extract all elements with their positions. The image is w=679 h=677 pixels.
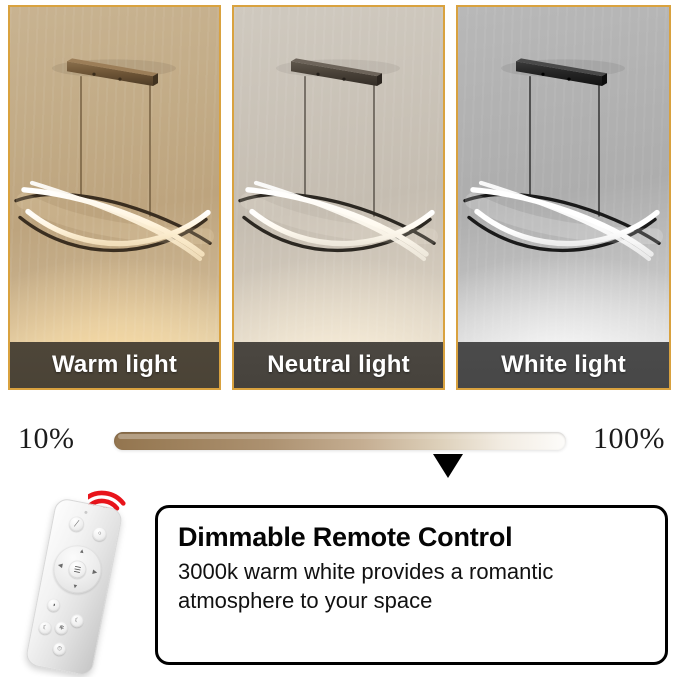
callout-body: 3000k warm white provides a romantic atm… (178, 557, 645, 615)
flash-mode-icon: ✻ (58, 624, 64, 631)
dpad-down-icon[interactable]: ▼ (71, 584, 78, 591)
remote-body[interactable]: ╱ ○ ▲ ▼ ◀ ▶ ☰ ◑ ☾ ☾ (24, 497, 123, 677)
night-mode-icon: ☾ (74, 617, 80, 624)
pendant-lamp-illustration (10, 7, 219, 342)
dimmer-gradient-bar[interactable] (114, 432, 566, 450)
dpad-up-icon[interactable]: ▲ (78, 548, 85, 555)
dpad-left-icon[interactable]: ◀ (57, 563, 63, 570)
light-temperature-comparison: Warm light (0, 0, 679, 396)
remote-control-photo: ╱ ○ ▲ ▼ ◀ ▶ ☰ ◑ ☾ ☾ (26, 480, 156, 676)
dpad-right-icon[interactable]: ▶ (92, 569, 98, 576)
panel-caption-warm: Warm light (10, 342, 219, 388)
neutral-light-lamp-photo (234, 7, 443, 342)
moon-icon: ☾ (42, 624, 48, 631)
dimmer-min-label: 10% (18, 422, 75, 456)
color-temp-button[interactable]: ◑ (46, 597, 61, 612)
remote-led-indicator-icon (84, 511, 88, 515)
brightness-up-icon: ╱ (74, 521, 79, 528)
dimming-range-indicator: 10% 100% (0, 398, 679, 474)
night-mode-button[interactable]: ☾ (70, 613, 85, 628)
panel-neutral-light: Neutral light (232, 5, 445, 390)
power-button[interactable]: ○ (91, 526, 107, 542)
remote-control-section: ╱ ○ ▲ ▼ ◀ ▶ ☰ ◑ ☾ ☾ (0, 474, 679, 676)
flash-mode-button[interactable]: ✻ (54, 620, 69, 635)
color-temp-icon: ◑ (51, 602, 56, 609)
panel-warm-light: Warm light (8, 5, 221, 390)
remote-control-callout: Dimmable Remote Control 3000k warm white… (155, 505, 668, 665)
timer-button[interactable]: ⏱ (52, 641, 67, 656)
brightness-up-button[interactable]: ╱ (68, 515, 86, 533)
timer-icon: ⏱ (57, 645, 63, 652)
power-icon: ○ (97, 531, 102, 538)
dpad-center-button[interactable]: ☰ (67, 559, 88, 580)
remote-dpad-ring[interactable]: ▲ ▼ ◀ ▶ ☰ (49, 541, 105, 597)
white-light-lamp-photo (458, 7, 669, 342)
panel-caption-white: White light (458, 342, 669, 388)
dimmer-max-label: 100% (593, 422, 665, 456)
panel-caption-neutral: Neutral light (234, 342, 443, 388)
callout-title: Dimmable Remote Control (178, 522, 645, 553)
warm-light-lamp-photo (10, 7, 219, 342)
panel-white-light: White light (456, 5, 671, 390)
moon-button[interactable]: ☾ (38, 620, 53, 635)
pendant-lamp-illustration (234, 7, 443, 342)
dpad-center-icon: ☰ (73, 564, 82, 574)
pendant-lamp-illustration (458, 7, 669, 342)
